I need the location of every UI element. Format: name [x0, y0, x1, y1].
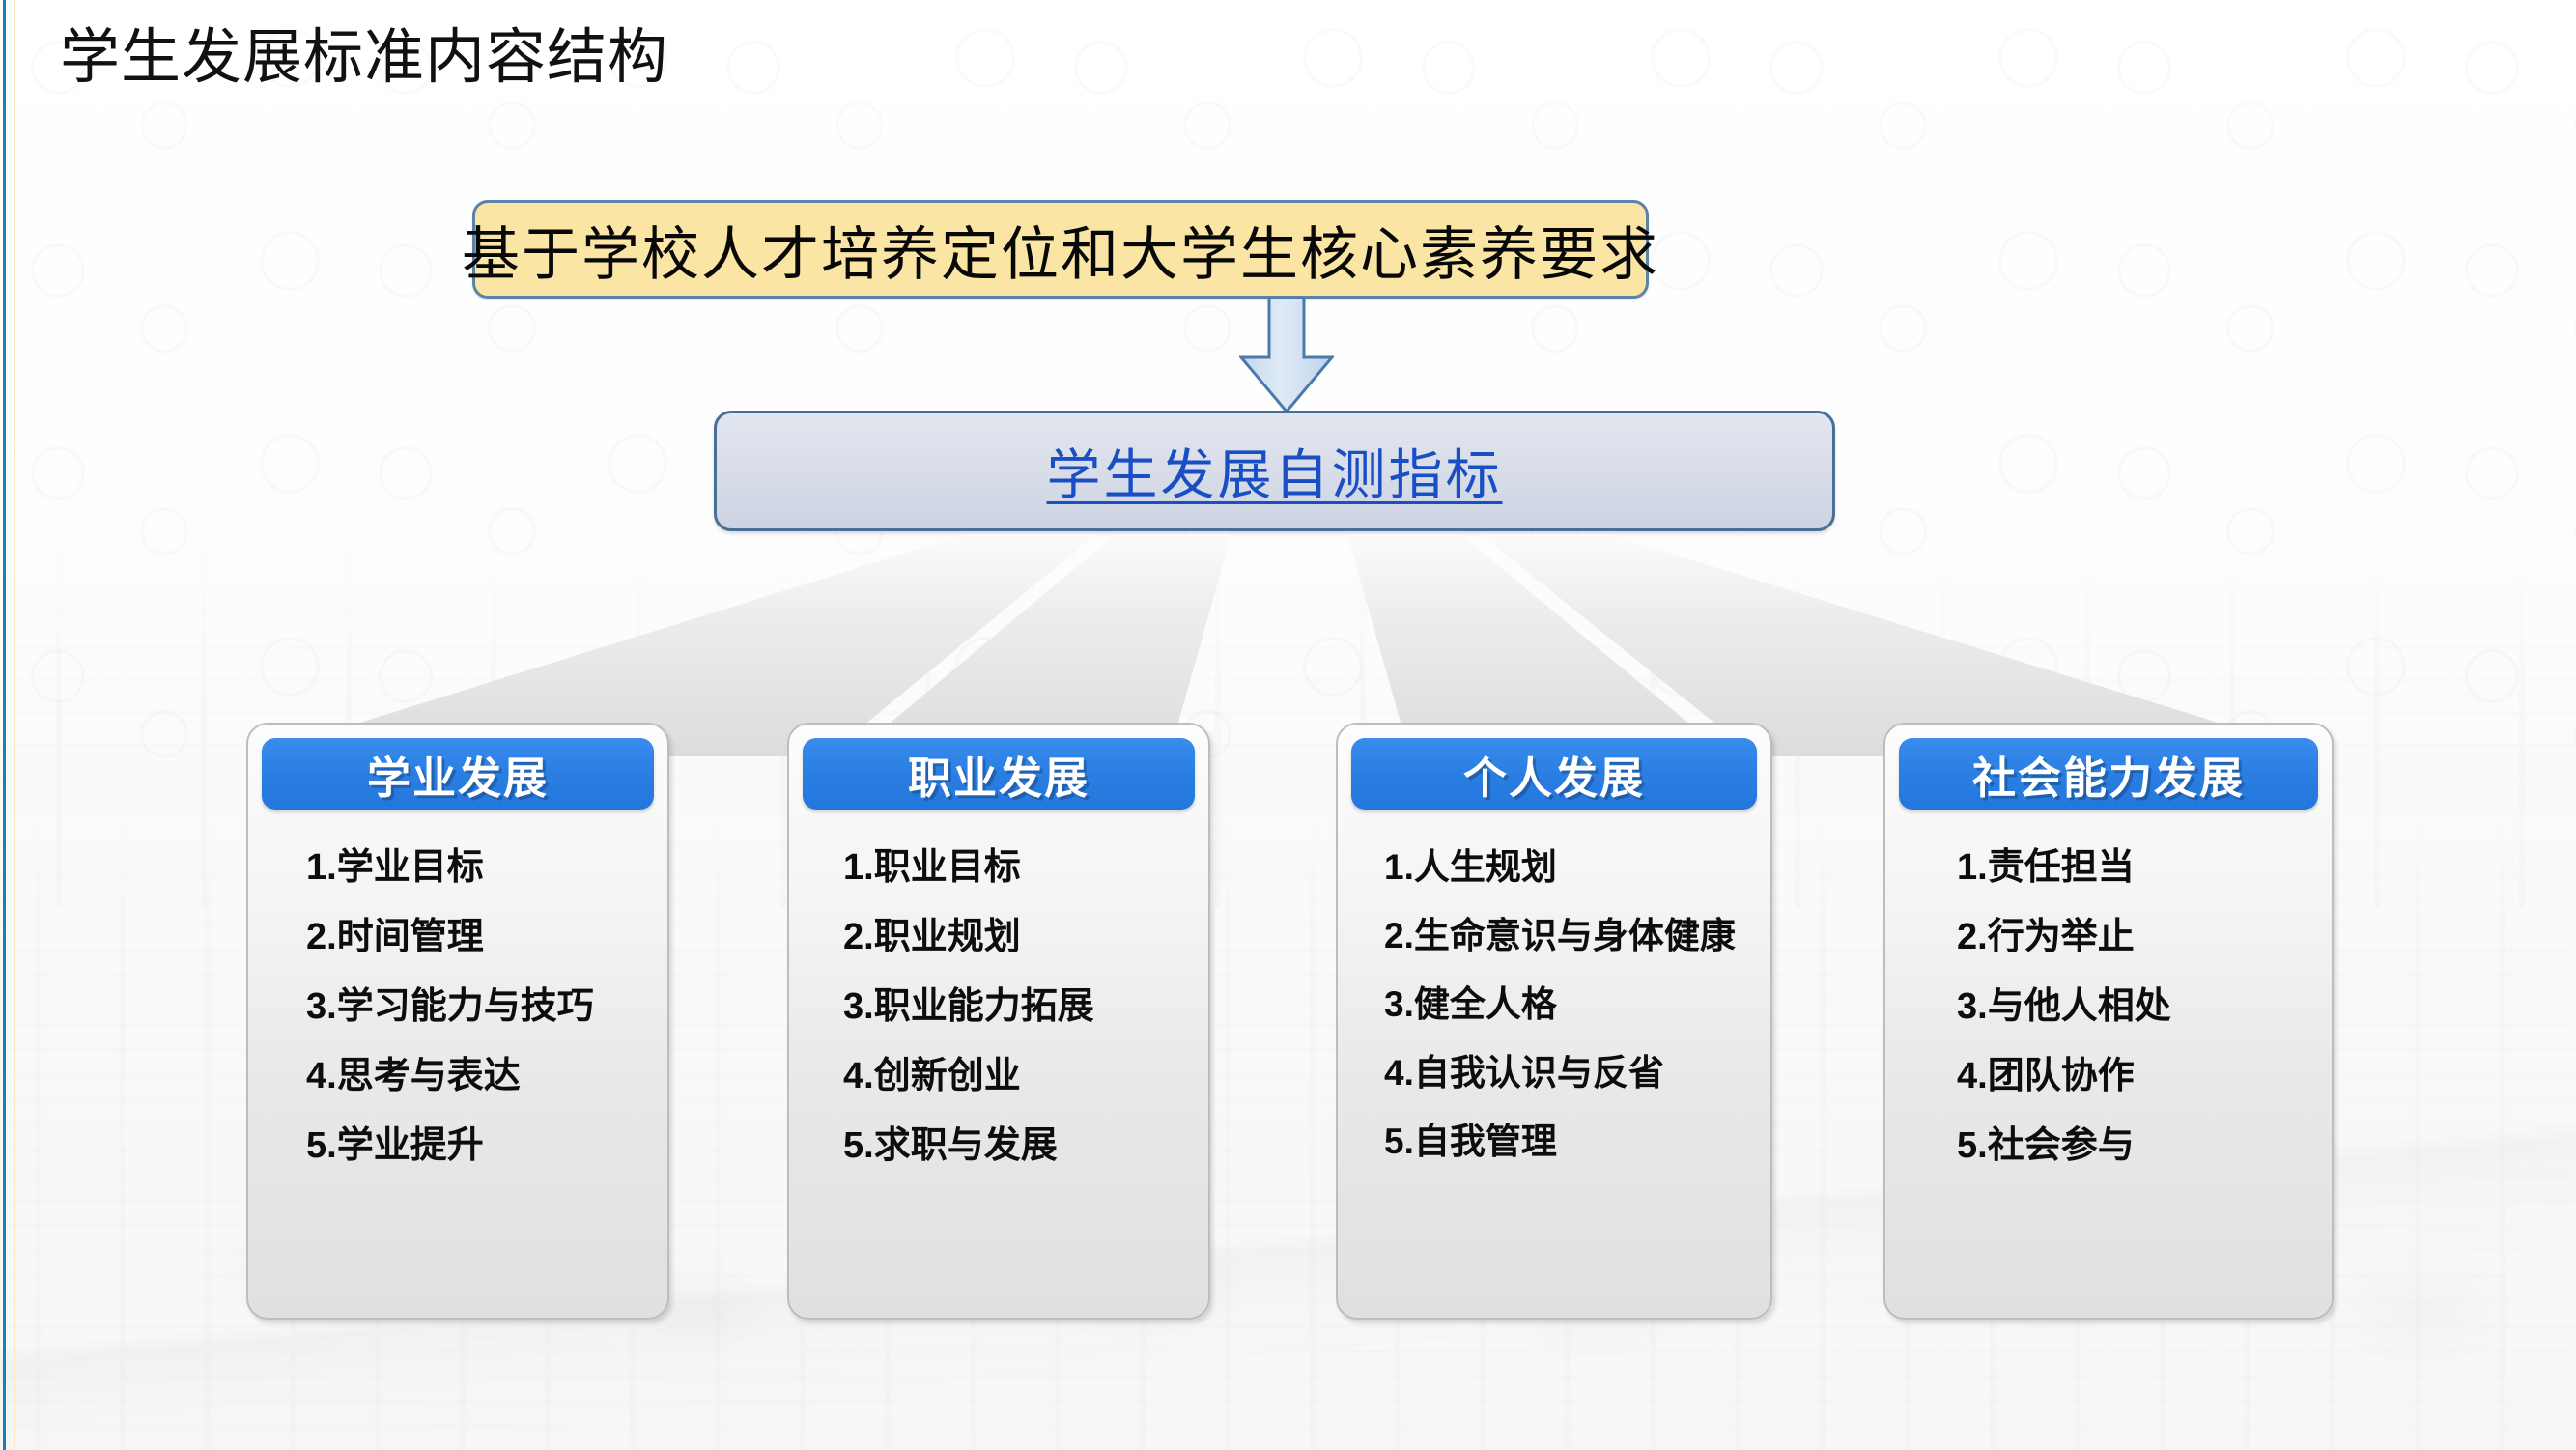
list-item[interactable]: 3.学习能力与技巧	[248, 972, 667, 1041]
premise-banner: 基于学校人才培养定位和大学生核心素养要求	[472, 200, 1649, 299]
list-item[interactable]: 5.自我管理	[1338, 1107, 1770, 1176]
card-item-list: 1.职业目标 2.职业规划 3.职业能力拓展 4.创新创业 5.求职与发展	[789, 833, 1208, 1180]
card-personal-development[interactable]: 个人发展 1.人生规划 2.生命意识与身体健康 3.健全人格 4.自我认识与反省…	[1336, 723, 1772, 1320]
list-item[interactable]: 2.时间管理	[248, 902, 667, 972]
list-item[interactable]: 3.健全人格	[1338, 970, 1770, 1038]
list-item[interactable]: 2.职业规划	[789, 902, 1208, 972]
card-career-development[interactable]: 职业发展 1.职业目标 2.职业规划 3.职业能力拓展 4.创新创业 5.求职与…	[787, 723, 1210, 1320]
list-item[interactable]: 5.求职与发展	[789, 1111, 1208, 1180]
card-header: 个人发展	[1351, 738, 1757, 810]
down-arrow-icon	[1239, 298, 1334, 413]
list-item[interactable]: 3.职业能力拓展	[789, 972, 1208, 1041]
main-indicator-banner[interactable]: 学生发展自测指标	[714, 411, 1835, 531]
card-header-label: 学业发展	[367, 743, 549, 806]
list-item[interactable]: 4.创新创业	[789, 1041, 1208, 1111]
list-item[interactable]: 2.生命意识与身体健康	[1338, 901, 1770, 970]
list-item[interactable]: 1.责任担当	[1885, 833, 2332, 902]
card-header-label: 个人发展	[1463, 743, 1645, 806]
card-header-label: 社会能力发展	[1972, 743, 2245, 806]
card-header: 职业发展	[803, 738, 1195, 810]
list-item[interactable]: 1.职业目标	[789, 833, 1208, 902]
list-item[interactable]: 1.学业目标	[248, 833, 667, 902]
card-header-label: 职业发展	[908, 743, 1090, 806]
card-item-list: 1.责任担当 2.行为举止 3.与他人相处 4.团队协作 5.社会参与	[1885, 833, 2332, 1180]
slide-canvas: 学生发展标准内容结构 基于学校人才培养定位和大学生核心素养要求 学生发展自测指标	[0, 0, 2576, 1450]
list-item[interactable]: 2.行为举止	[1885, 902, 2332, 972]
list-item[interactable]: 3.与他人相处	[1885, 972, 2332, 1041]
premise-banner-label: 基于学校人才培养定位和大学生核心素养要求	[462, 208, 1659, 292]
list-item[interactable]: 5.学业提升	[248, 1111, 667, 1180]
card-header: 学业发展	[262, 738, 654, 810]
list-item[interactable]: 5.社会参与	[1885, 1111, 2332, 1180]
card-item-list: 1.学业目标 2.时间管理 3.学习能力与技巧 4.思考与表达 5.学业提升	[248, 833, 667, 1180]
card-social-ability-development[interactable]: 社会能力发展 1.责任担当 2.行为举止 3.与他人相处 4.团队协作 5.社会…	[1883, 723, 2334, 1320]
list-item[interactable]: 4.思考与表达	[248, 1041, 667, 1111]
list-item[interactable]: 4.自我认识与反省	[1338, 1038, 1770, 1107]
card-academic-development[interactable]: 学业发展 1.学业目标 2.时间管理 3.学习能力与技巧 4.思考与表达 5.学…	[246, 723, 669, 1320]
list-item[interactable]: 1.人生规划	[1338, 833, 1770, 901]
list-item[interactable]: 4.团队协作	[1885, 1041, 2332, 1111]
page-title: 学生发展标准内容结构	[60, 25, 668, 91]
main-indicator-label: 学生发展自测指标	[1047, 432, 1503, 510]
card-item-list: 1.人生规划 2.生命意识与身体健康 3.健全人格 4.自我认识与反省 5.自我…	[1338, 833, 1770, 1176]
card-header: 社会能力发展	[1899, 738, 2318, 810]
